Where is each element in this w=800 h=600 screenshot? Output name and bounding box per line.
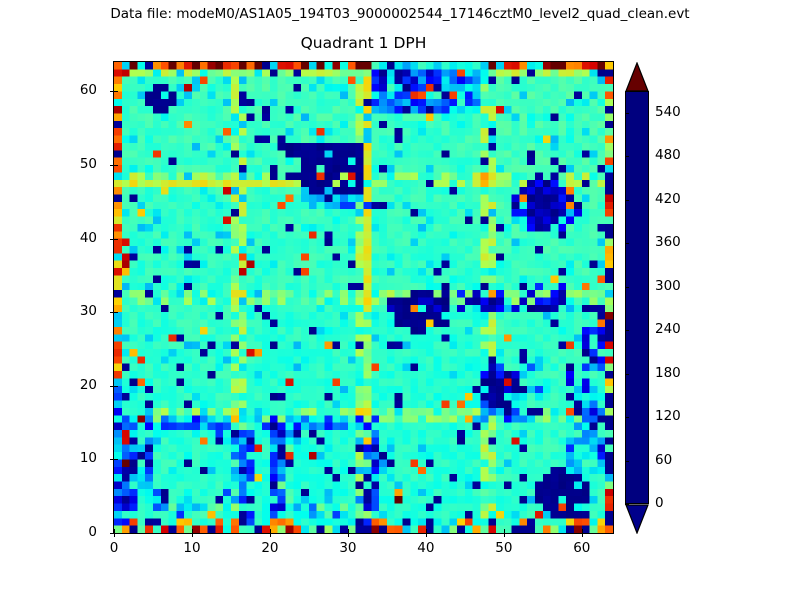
colorbar-tick-label: 180: [655, 365, 681, 381]
x-tick-label: 10: [162, 540, 222, 556]
x-tick-mark: [504, 529, 505, 533]
colorbar-tick-label: 60: [655, 452, 672, 468]
y-tick-mark: [114, 312, 118, 313]
colorbar-under-arrow-icon: [625, 504, 649, 533]
colorbar-tick-mark: [625, 417, 629, 418]
y-tick-label: 20: [37, 377, 97, 393]
y-tick-label: 30: [37, 303, 97, 319]
y-tick-label: 60: [37, 82, 97, 98]
colorbar-gradient: [625, 91, 649, 504]
y-tick-mark: [114, 386, 118, 387]
colorbar[interactable]: [625, 62, 649, 533]
y-tick-mark: [114, 533, 118, 534]
x-tick-label: 40: [396, 540, 456, 556]
y-tick-mark: [114, 239, 118, 240]
colorbar-tick-label: 120: [655, 408, 681, 424]
data-file-suptitle: Data file: modeM0/AS1A05_194T03_90000025…: [0, 6, 800, 22]
colorbar-tick-mark: [625, 200, 629, 201]
colorbar-tick-label: 300: [655, 278, 681, 294]
colorbar-over-arrow-icon: [625, 62, 649, 91]
x-tick-mark: [348, 533, 349, 537]
heatmap-image[interactable]: [114, 62, 613, 533]
x-tick-mark: [192, 533, 193, 537]
colorbar-tick-label: 0: [655, 495, 664, 511]
x-tick-mark: [582, 529, 583, 533]
x-tick-mark: [192, 529, 193, 533]
colorbar-tick-mark: [625, 243, 629, 244]
colorbar-tick-mark: [625, 330, 629, 331]
matplotlib-figure: Data file: modeM0/AS1A05_194T03_90000025…: [0, 0, 800, 600]
colorbar-tick-label: 420: [655, 191, 681, 207]
y-tick-label: 50: [37, 156, 97, 172]
heatmap-axes[interactable]: [113, 61, 614, 534]
page-title: Quadrant 1 DPH: [114, 34, 613, 52]
y-tick-label: 40: [37, 230, 97, 246]
y-tick-mark: [114, 165, 118, 166]
colorbar-tick-label: 540: [655, 104, 681, 120]
x-tick-mark: [426, 533, 427, 537]
x-tick-mark: [270, 533, 271, 537]
colorbar-tick-mark: [625, 504, 629, 505]
x-tick-mark: [426, 529, 427, 533]
x-tick-label: 20: [240, 540, 300, 556]
colorbar-tick-mark: [625, 156, 629, 157]
colorbar-tick-mark: [625, 113, 629, 114]
colorbar-tick-label: 480: [655, 147, 681, 163]
y-tick-mark: [114, 459, 118, 460]
x-tick-label: 30: [318, 540, 378, 556]
x-tick-mark: [348, 529, 349, 533]
x-tick-mark: [582, 533, 583, 537]
x-tick-label: 50: [474, 540, 534, 556]
colorbar-tick-mark: [625, 461, 629, 462]
x-tick-mark: [504, 533, 505, 537]
x-tick-label: 60: [552, 540, 612, 556]
x-tick-mark: [270, 529, 271, 533]
colorbar-tick-mark: [625, 287, 629, 288]
y-tick-label: 10: [37, 450, 97, 466]
y-tick-mark: [114, 91, 118, 92]
colorbar-tick-label: 360: [655, 234, 681, 250]
y-tick-label: 0: [37, 524, 97, 540]
colorbar-tick-mark: [625, 374, 629, 375]
colorbar-tick-label: 240: [655, 321, 681, 337]
x-tick-label: 0: [84, 540, 144, 556]
